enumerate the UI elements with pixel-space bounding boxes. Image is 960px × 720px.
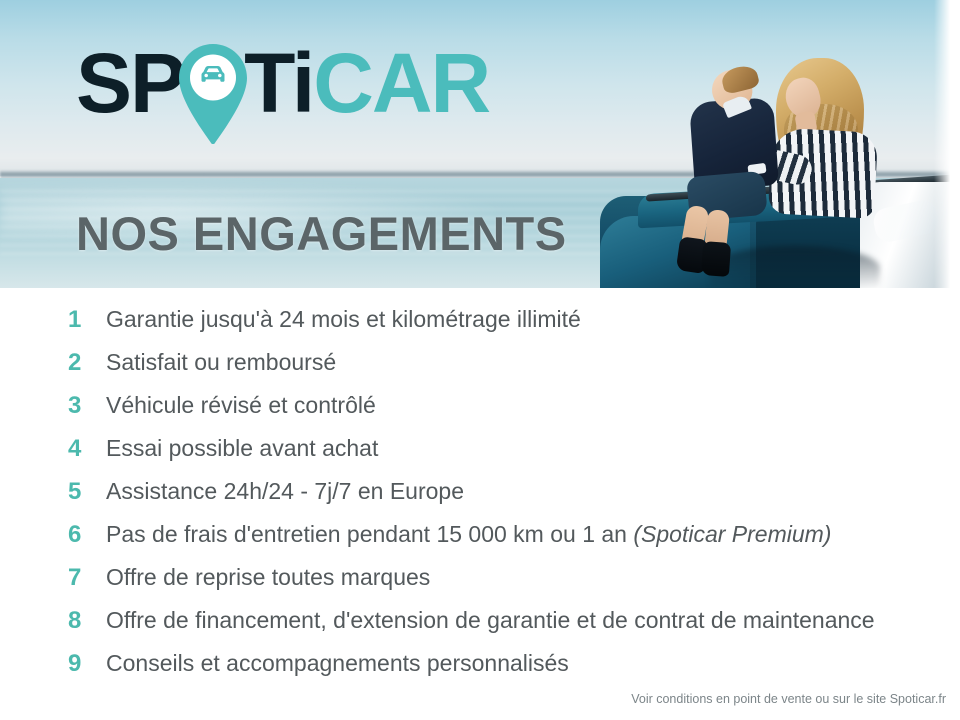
list-item: 4 Essai possible avant achat bbox=[62, 435, 942, 478]
list-item: 6 Pas de frais d'entretien pendant 15 00… bbox=[62, 521, 942, 564]
list-item-text: Véhicule révisé et contrôlé bbox=[106, 392, 376, 419]
roof-reflection bbox=[710, 246, 880, 288]
photo-right-fade bbox=[934, 0, 960, 288]
list-item-number: 2 bbox=[62, 349, 106, 377]
family-on-car-photo bbox=[560, 0, 960, 288]
spoticar-logo: SP Ti CAR bbox=[76, 40, 489, 132]
list-item-number: 6 bbox=[62, 521, 106, 549]
list-item-text-emphasis: (Spoticar Premium) bbox=[633, 521, 831, 547]
list-item-number: 3 bbox=[62, 392, 106, 420]
boy-hair bbox=[720, 63, 761, 95]
list-item-text: Conseils et accompagnements personnalisé… bbox=[106, 650, 569, 677]
logo-text-sp: SP bbox=[76, 40, 184, 126]
legal-footnote: Voir conditions en point de vente ou sur… bbox=[631, 692, 946, 706]
page-title: NOS ENGAGEMENTS bbox=[76, 206, 567, 261]
list-item: 9 Conseils et accompagnements personnali… bbox=[62, 650, 942, 693]
list-item-text: Pas de frais d'entretien pendant 15 000 … bbox=[106, 521, 831, 548]
commitments-list: 1 Garantie jusqu'à 24 mois et kilométrag… bbox=[62, 306, 942, 693]
list-item-number: 5 bbox=[62, 478, 106, 506]
spoticar-commitments-poster: SP Ti CAR NOS ENGAGEMENTS 1 Garantie jus… bbox=[0, 0, 960, 720]
list-item-text-main: Pas de frais d'entretien pendant 15 000 … bbox=[106, 521, 633, 547]
list-item: 1 Garantie jusqu'à 24 mois et kilométrag… bbox=[62, 306, 942, 349]
hero-photo: SP Ti CAR NOS ENGAGEMENTS bbox=[0, 0, 960, 288]
list-item-number: 4 bbox=[62, 435, 106, 463]
list-item-text: Satisfait ou remboursé bbox=[106, 349, 336, 376]
list-item-number: 9 bbox=[62, 650, 106, 678]
list-item: 7 Offre de reprise toutes marques bbox=[62, 564, 942, 607]
list-item: 8 Offre de financement, d'extension de g… bbox=[62, 607, 942, 650]
list-item: 5 Assistance 24h/24 - 7j/7 en Europe bbox=[62, 478, 942, 521]
logo-text-ti: Ti bbox=[244, 40, 313, 126]
logo-text-car: CAR bbox=[313, 40, 489, 126]
list-item-number: 7 bbox=[62, 564, 106, 592]
list-item-text: Offre de reprise toutes marques bbox=[106, 564, 430, 591]
list-item-text: Essai possible avant achat bbox=[106, 435, 378, 462]
list-item-text: Garantie jusqu'à 24 mois et kilométrage … bbox=[106, 306, 581, 333]
list-item-number: 8 bbox=[62, 607, 106, 635]
boy-boot-right bbox=[701, 241, 731, 277]
list-item-number: 1 bbox=[62, 306, 106, 334]
map-pin-car-icon bbox=[178, 40, 248, 144]
list-item: 2 Satisfait ou remboursé bbox=[62, 349, 942, 392]
boy-figure bbox=[678, 70, 798, 240]
list-item: 3 Véhicule révisé et contrôlé bbox=[62, 392, 942, 435]
list-item-text: Offre de financement, d'extension de gar… bbox=[106, 607, 875, 634]
list-item-text: Assistance 24h/24 - 7j/7 en Europe bbox=[106, 478, 464, 505]
